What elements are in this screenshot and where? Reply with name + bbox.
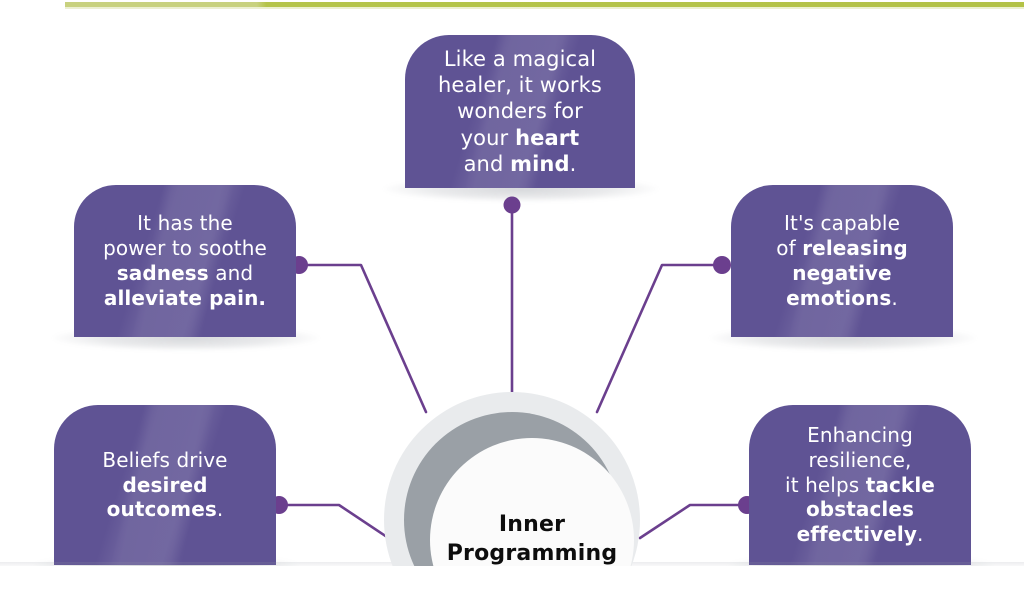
card-right-bottom-text: Enhancingresilience,it helps tackleobsta… bbox=[775, 423, 945, 547]
card-top-text: Like a magicalhealer, it workswonders fo… bbox=[428, 46, 612, 176]
card-left-top[interactable]: It has thepower to soothesadness andalle… bbox=[74, 185, 296, 337]
center-hub-label-line2: Programming bbox=[447, 541, 618, 566]
card-right-top[interactable]: It's capableof releasingnegativeemotions… bbox=[731, 185, 953, 337]
connector-path-left-top bbox=[298, 265, 426, 412]
card-left-bottom[interactable]: Beliefs drivedesiredoutcomes. bbox=[54, 405, 276, 565]
connector-dot-top bbox=[504, 197, 521, 214]
baseline-mask bbox=[0, 566, 1024, 612]
card-top[interactable]: Like a magicalhealer, it workswonders fo… bbox=[405, 35, 635, 188]
card-left-bottom-text: Beliefs drivedesiredoutcomes. bbox=[92, 448, 237, 522]
center-hub-label-line1: Inner bbox=[499, 512, 565, 537]
card-right-top-text: It's capableof releasingnegativeemotions… bbox=[766, 211, 918, 310]
connector-path-right-top bbox=[597, 265, 722, 412]
card-right-bottom[interactable]: Enhancingresilience,it helps tackleobsta… bbox=[749, 405, 971, 565]
connector-path-right-bottom bbox=[640, 505, 747, 538]
card-left-top-text: It has thepower to soothesadness andalle… bbox=[93, 211, 277, 310]
infographic-canvas: Like a magicalhealer, it workswonders fo… bbox=[0, 0, 1024, 612]
center-hub-label: Inner Programming bbox=[447, 511, 618, 568]
connector-path-left-bottom bbox=[278, 505, 390, 539]
connector-dot-right-top bbox=[713, 256, 731, 274]
